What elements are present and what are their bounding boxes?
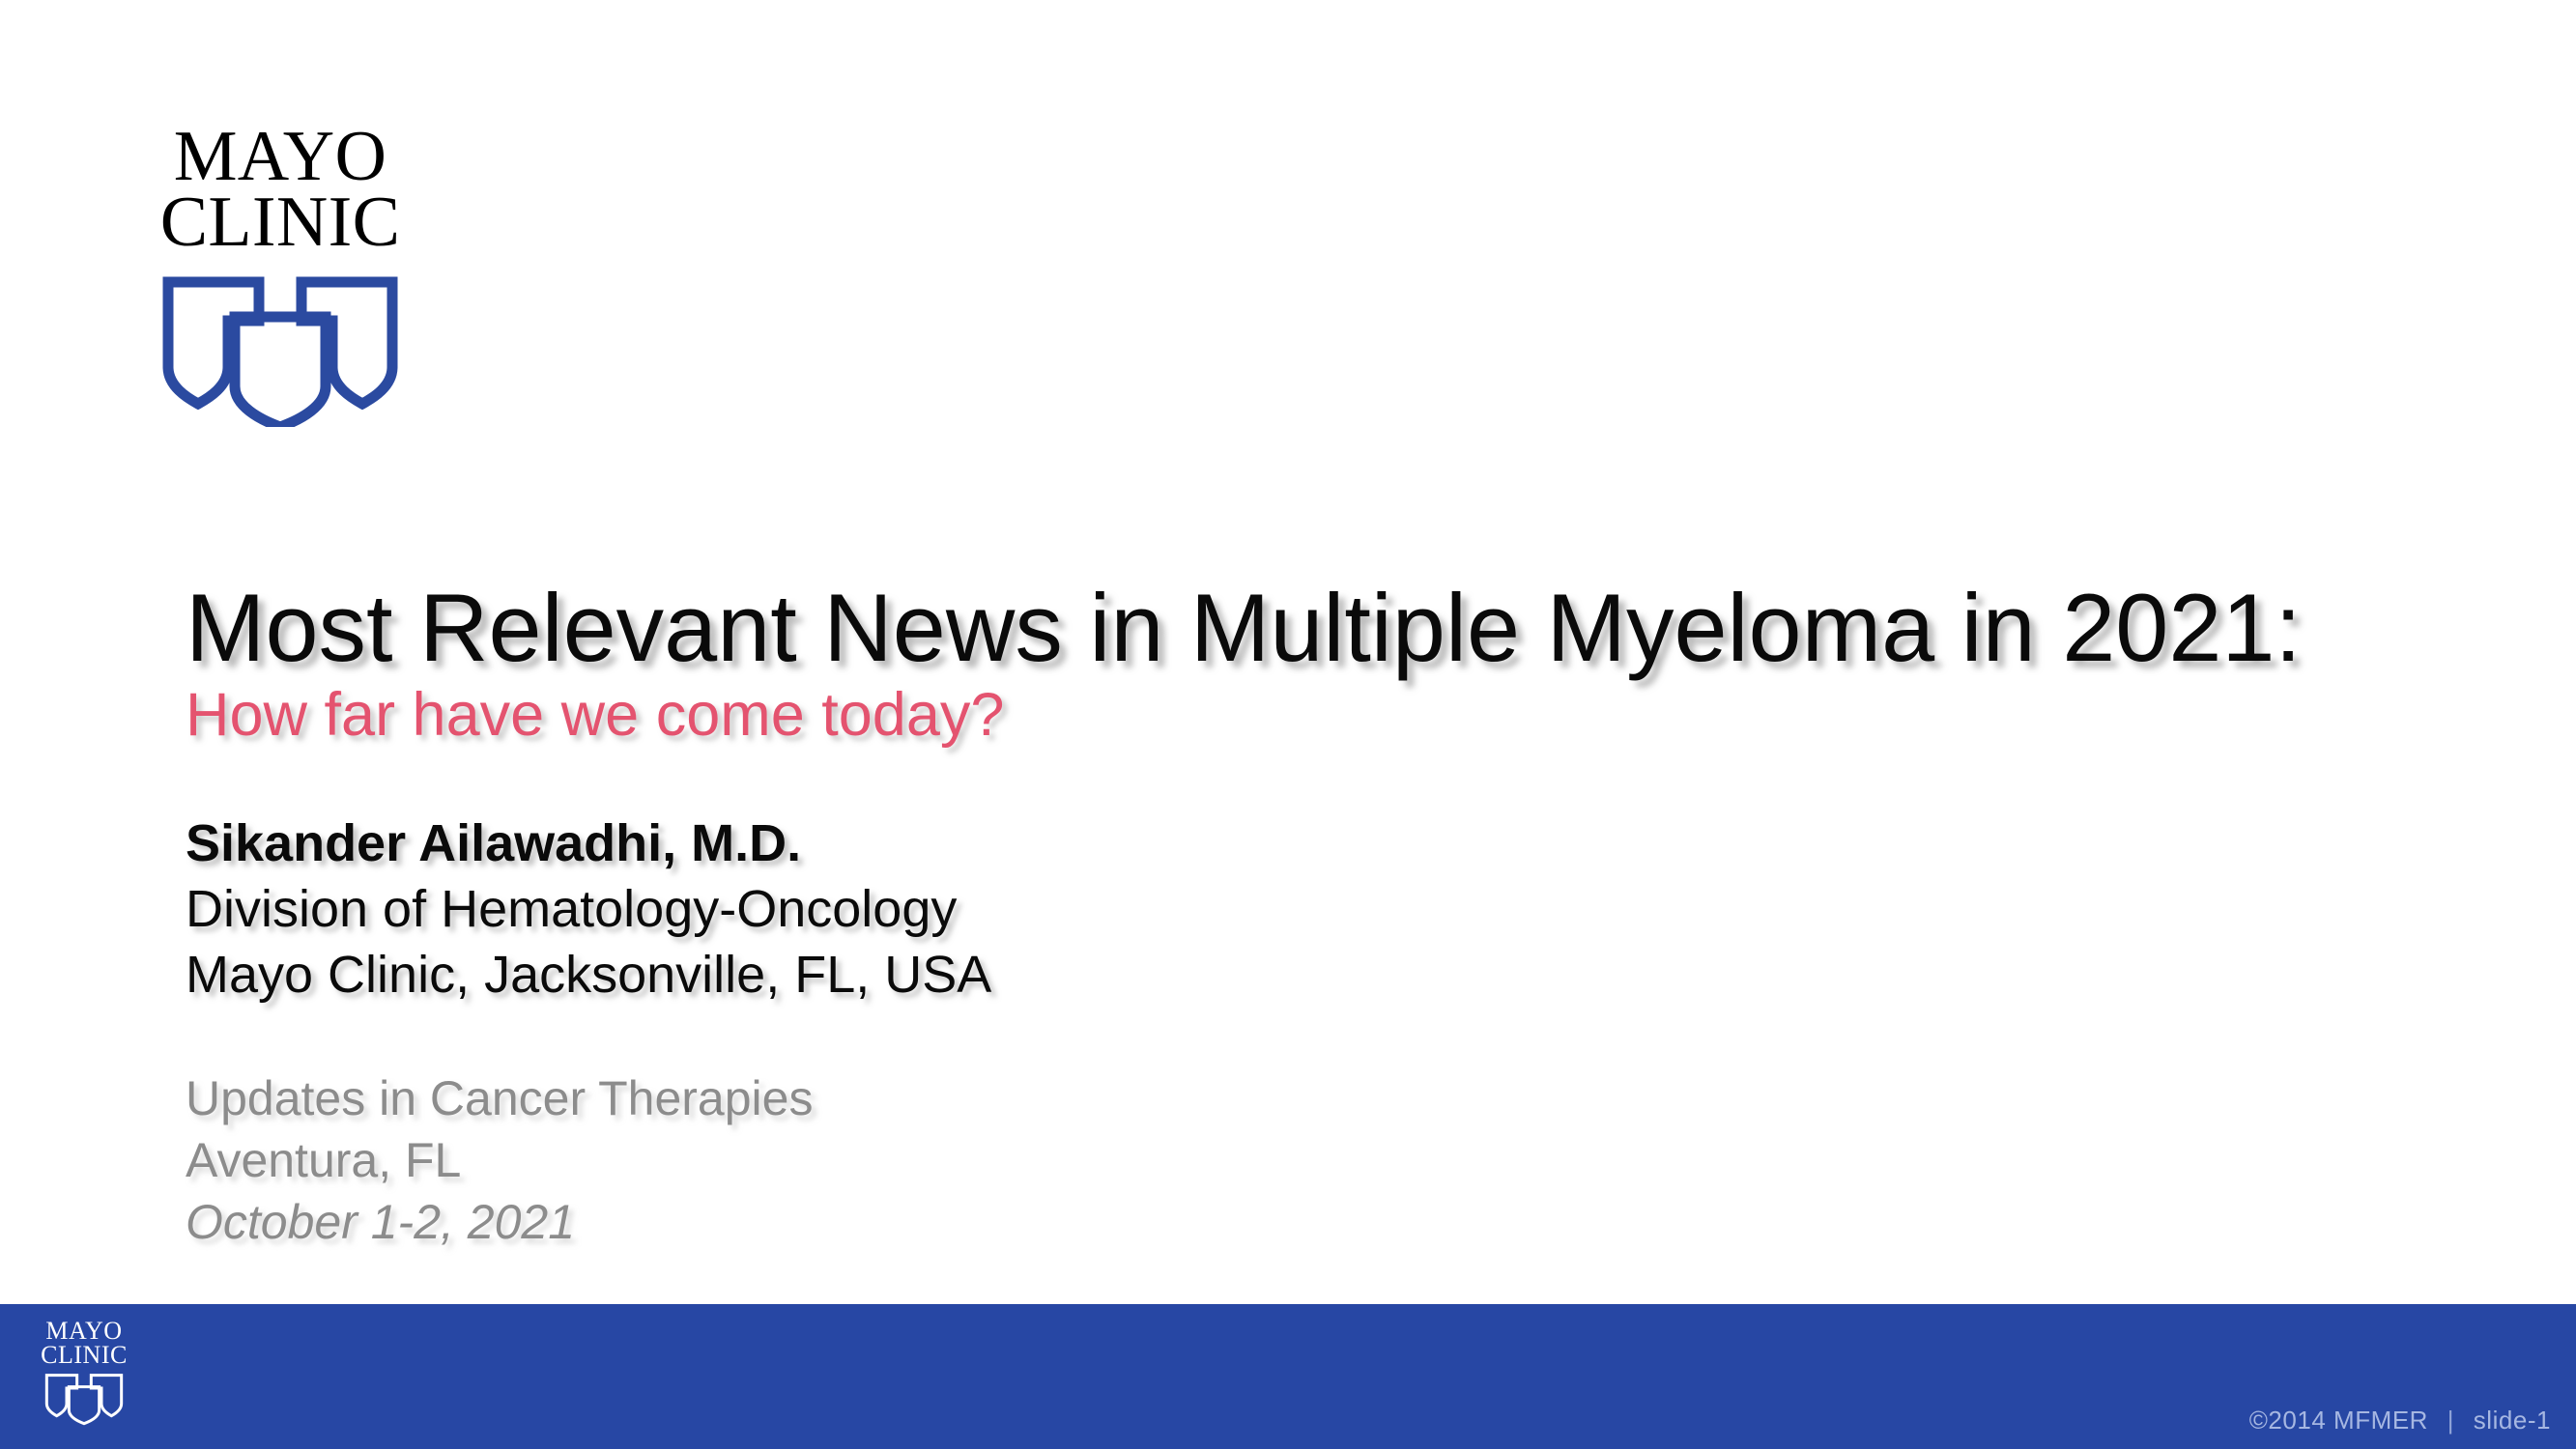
footer-wordmark-line-clinic: CLINIC	[21, 1344, 147, 1368]
mayo-clinic-three-shields-icon	[135, 272, 425, 427]
footer-wordmark-line-mayo: MAYO	[21, 1320, 147, 1344]
footer-copyright: ©2014 MFMER	[2249, 1406, 2428, 1435]
author-institution: Mayo Clinic, Jacksonville, FL, USA	[186, 942, 2408, 1008]
event-date: October 1-2, 2021	[186, 1191, 2408, 1253]
wordmark-line-clinic: CLINIC	[135, 189, 425, 255]
presentation-slide: MAYO CLINIC Most Relevant News in Multip…	[0, 0, 2576, 1449]
footer-slide-number: slide-1	[2474, 1406, 2551, 1435]
event-block: Updates in Cancer Therapies Aventura, FL…	[186, 1067, 2408, 1253]
slide-title: Most Relevant News in Multiple Myeloma i…	[186, 580, 2408, 677]
event-location: Aventura, FL	[186, 1129, 2408, 1191]
mayo-clinic-three-shields-icon-white	[36, 1370, 132, 1426]
footer-meta: ©2014 MFMER | slide-1	[2249, 1406, 2551, 1435]
author-name: Sikander Ailawadhi, M.D.	[186, 810, 2408, 876]
wordmark-line-mayo: MAYO	[135, 124, 425, 189]
mayo-clinic-logo: MAYO CLINIC	[135, 124, 425, 442]
author-block: Sikander Ailawadhi, M.D. Division of Hem…	[186, 810, 2408, 1008]
author-division: Division of Hematology-Oncology	[186, 876, 2408, 942]
slide-subtitle: How far have we come today?	[186, 683, 2408, 747]
mayo-clinic-wordmark: MAYO CLINIC	[135, 124, 425, 255]
slide-content: Most Relevant News in Multiple Myeloma i…	[186, 580, 2408, 1253]
slide-footer-bar: MAYO CLINIC ©2014 MFMER | slide-1	[0, 1304, 2576, 1449]
footer-mayo-clinic-logo: MAYO CLINIC	[21, 1320, 147, 1437]
footer-separator: |	[2436, 1406, 2466, 1435]
event-name: Updates in Cancer Therapies	[186, 1067, 2408, 1129]
